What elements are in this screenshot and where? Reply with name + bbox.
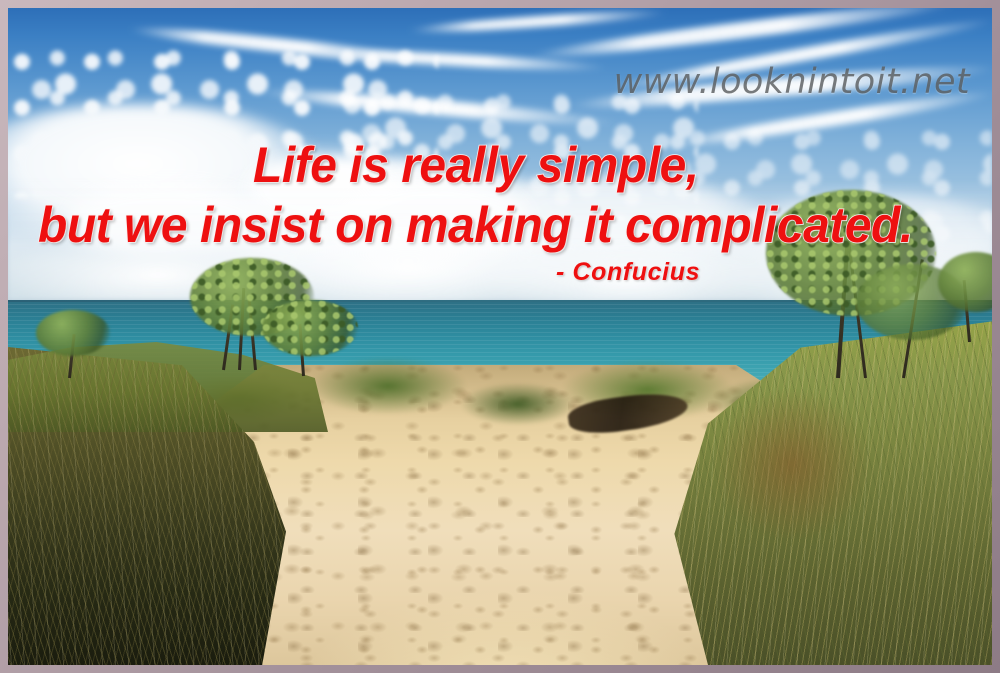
far-left-shrub	[28, 308, 118, 378]
site-watermark: www.looknintoit.net	[614, 62, 970, 102]
tree-canopy	[938, 252, 992, 312]
right-far-shrub	[938, 252, 992, 342]
dune-landscape	[8, 360, 992, 665]
cirrus-streak	[408, 8, 668, 36]
tree-canopy	[36, 310, 110, 356]
tree-foliage-texture	[262, 300, 358, 356]
left-small-tree	[256, 300, 366, 376]
photo-canvas: Life is really simple, but we insist on …	[8, 8, 992, 665]
photo-frame: Life is really simple, but we insist on …	[0, 0, 1000, 673]
brown-tussock-grass	[682, 370, 902, 580]
